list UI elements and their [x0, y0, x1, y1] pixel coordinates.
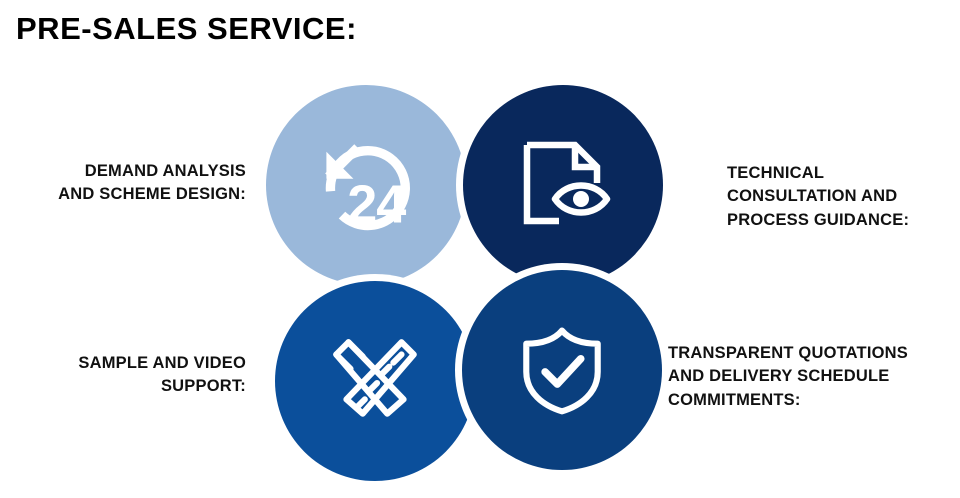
shield-check-icon [515, 323, 609, 417]
svg-text:24: 24 [347, 174, 406, 234]
label-line: TECHNICAL [727, 162, 953, 185]
page-title: PRE-SALES SERVICE: [16, 11, 357, 47]
label-line: SAMPLE AND VIDEO [16, 352, 246, 375]
label-demand-analysis: DEMAND ANALYSIS AND SCHEME DESIGN: [16, 160, 246, 207]
infographic-canvas: PRE-SALES SERVICE: DEMAND ANALYSIS AND S… [0, 0, 960, 498]
label-line: PROCESS GUIDANCE: [727, 209, 953, 232]
label-transparent-quotations: TRANSPARENT QUOTATIONS AND DELIVERY SCHE… [668, 342, 960, 412]
label-line: TRANSPARENT QUOTATIONS [668, 342, 960, 365]
24-hour-rotate-icon: 24 [316, 133, 420, 237]
circle-demand-analysis[interactable]: 24 [266, 85, 466, 285]
circle-cluster: 24 [266, 85, 666, 483]
label-technical-consultation: TECHNICAL CONSULTATION AND PROCESS GUIDA… [727, 162, 953, 232]
label-sample-video-support: SAMPLE AND VIDEO SUPPORT: [16, 352, 246, 399]
circle-transparent-quotations[interactable] [462, 270, 662, 470]
document-eye-icon [513, 135, 613, 235]
label-line: AND DELIVERY SCHEDULE [668, 365, 960, 388]
circle-technical-consultation[interactable] [463, 85, 663, 285]
label-line: COMMITMENTS: [668, 389, 960, 412]
label-line: DEMAND ANALYSIS [16, 160, 246, 183]
circle-sample-video-support[interactable] [275, 281, 475, 481]
label-line: AND SCHEME DESIGN: [16, 183, 246, 206]
pencil-ruler-icon [324, 330, 426, 432]
label-line: SUPPORT: [16, 375, 246, 398]
label-line: CONSULTATION AND [727, 185, 953, 208]
